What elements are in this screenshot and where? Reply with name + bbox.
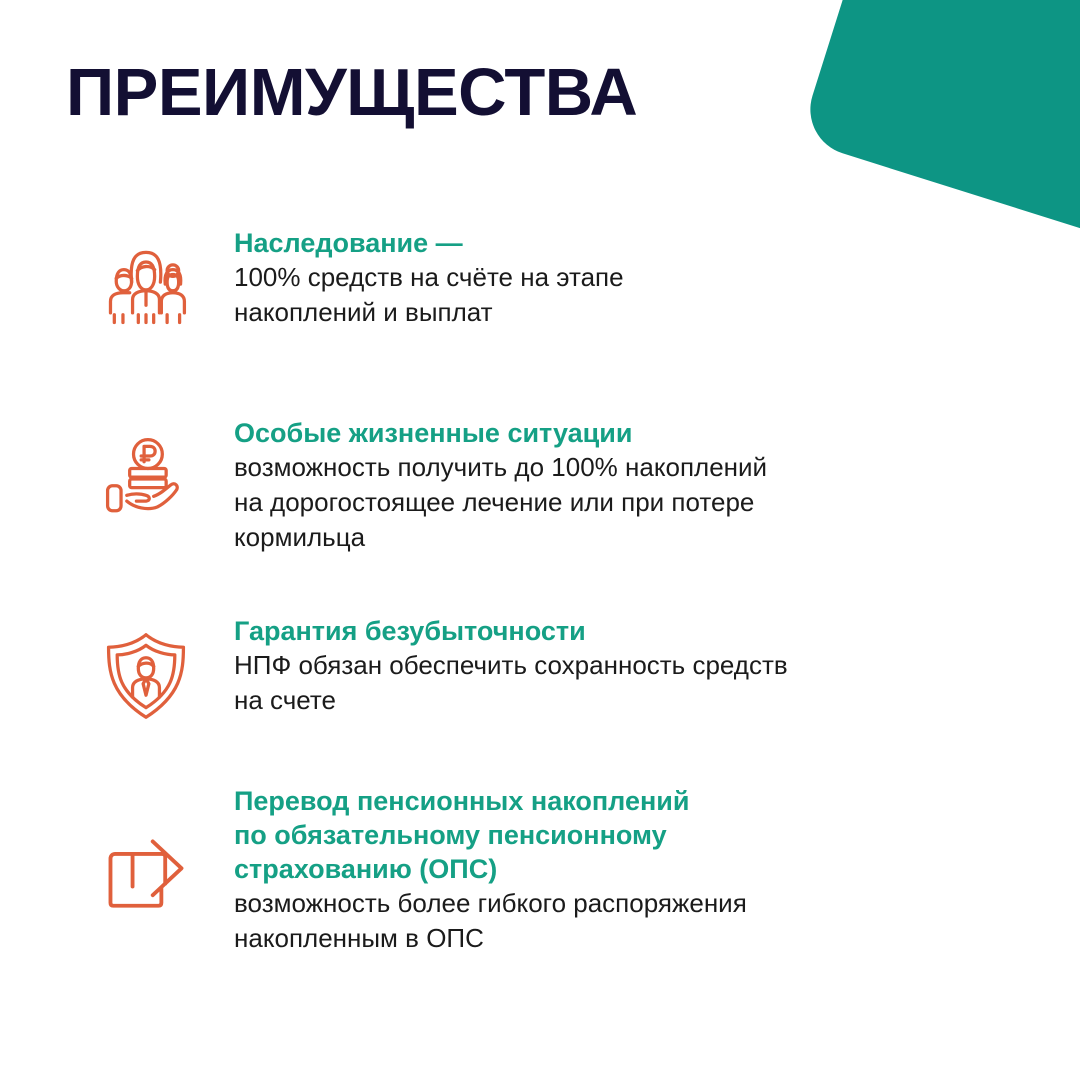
benefit-body: возможность более гибкого распоряжения н…: [234, 886, 986, 956]
benefit-item: Особые жизненные ситуации возможность по…: [86, 416, 986, 555]
teal-corner-shape: [799, 0, 1080, 251]
benefit-body: НПФ обязан обеспечить сохранность средст…: [234, 648, 986, 718]
benefit-text: Особые жизненные ситуации возможность по…: [206, 416, 986, 555]
benefit-body: 100% средств на счёте на этапе накоплени…: [234, 260, 986, 330]
benefit-heading: Гарантия безубыточности: [234, 614, 986, 648]
benefit-item: Гарантия безубыточности НПФ обязан обесп…: [86, 614, 986, 724]
benefit-heading: Перевод пенсионных накоплений по обязате…: [234, 784, 986, 886]
slide-root: ПРЕИМУЩЕСТВА: [0, 0, 1080, 1080]
benefit-text: Гарантия безубыточности НПФ обязан обесп…: [206, 614, 986, 718]
benefit-text: Перевод пенсионных накоплений по обязате…: [206, 784, 986, 956]
benefit-body: возможность получить до 100% накоплений …: [234, 450, 986, 555]
benefit-heading: Наследование —: [234, 226, 986, 260]
benefit-text: Наследование — 100% средств на счёте на …: [206, 226, 986, 330]
family-group-icon: [86, 226, 206, 334]
export-arrow-icon: [86, 784, 206, 924]
hand-with-ruble-coins-icon: [86, 416, 206, 528]
page-title: ПРЕИМУЩЕСТВА: [66, 53, 637, 133]
shield-with-person-icon: [86, 614, 206, 724]
benefit-heading: Особые жизненные ситуации: [234, 416, 986, 450]
benefit-item: Наследование — 100% средств на счёте на …: [86, 226, 986, 334]
benefit-item: Перевод пенсионных накоплений по обязате…: [86, 784, 986, 956]
